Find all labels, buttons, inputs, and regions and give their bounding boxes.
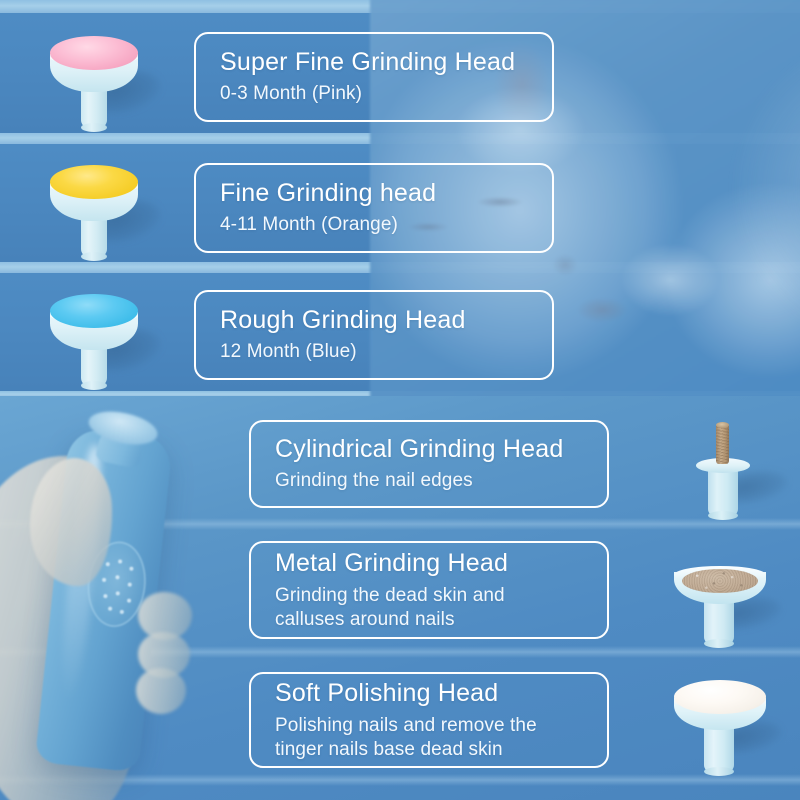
icon-abrasive-surface: [682, 569, 758, 593]
card-subtitle-line-1: Polishing nails and remove the: [275, 714, 607, 738]
card-subtitle-line-1: Grinding the dead skin and: [275, 584, 607, 608]
card-subtitle: 0-3 Month (Pink): [220, 83, 552, 106]
card-title: Metal Grinding Head: [275, 549, 607, 577]
device-attached-head: [86, 406, 161, 450]
hand-thumb: [30, 458, 112, 586]
grinding-head-card-super-fine: Super Fine Grinding Head 0-3 Month (Pink…: [194, 32, 554, 122]
attachment-card-soft-polishing: Soft Polishing Head Polishing nails and …: [249, 672, 609, 768]
card-subtitle-line-2: tinger nails base dead skin: [275, 738, 607, 762]
grinding-head-card-fine: Fine Grinding head 4-11 Month (Orange): [194, 163, 554, 253]
card-title: Fine Grinding head: [220, 179, 552, 207]
icon-abrasive-tip: [716, 422, 729, 428]
card-subtitle: 12 Month (Blue): [220, 341, 552, 364]
icon-abrasive-surface: [50, 165, 138, 199]
metal-grinding-head-icon: [662, 544, 782, 654]
hand-holding-nail-trimmer-photo: [0, 396, 260, 800]
grinding-head-card-rough: Rough Grinding Head 12 Month (Blue): [194, 290, 554, 380]
attachment-card-cylindrical: Cylindrical Grinding Head Grinding the n…: [249, 420, 609, 508]
card-title: Rough Grinding Head: [220, 306, 552, 334]
card-title: Super Fine Grinding Head: [220, 48, 552, 76]
card-title: Cylindrical Grinding Head: [275, 435, 607, 463]
card-subtitle-line-2: calluses around nails: [275, 608, 607, 632]
grinding-head-blue-icon: [38, 286, 158, 390]
grinding-head-pink-icon: [38, 28, 158, 132]
soft-polishing-head-icon: [662, 668, 782, 778]
icon-abrasive-surface: [50, 36, 138, 70]
icon-abrasive-surface: [716, 424, 729, 464]
card-subtitle-line-1: Grinding the nail edges: [275, 470, 607, 493]
card-title: Soft Polishing Head: [275, 679, 607, 707]
icon-abrasive-surface: [50, 294, 138, 328]
attachment-card-metal: Metal Grinding Head Grinding the dead sk…: [249, 541, 609, 639]
cylindrical-grinding-head-icon: [668, 418, 788, 528]
hand-finger: [136, 668, 186, 714]
product-infographic: Super Fine Grinding Head 0-3 Month (Pink…: [0, 0, 800, 800]
grinding-head-yellow-icon: [38, 157, 158, 261]
icon-polishing-surface: [674, 680, 766, 714]
card-subtitle: 4-11 Month (Orange): [220, 214, 552, 237]
